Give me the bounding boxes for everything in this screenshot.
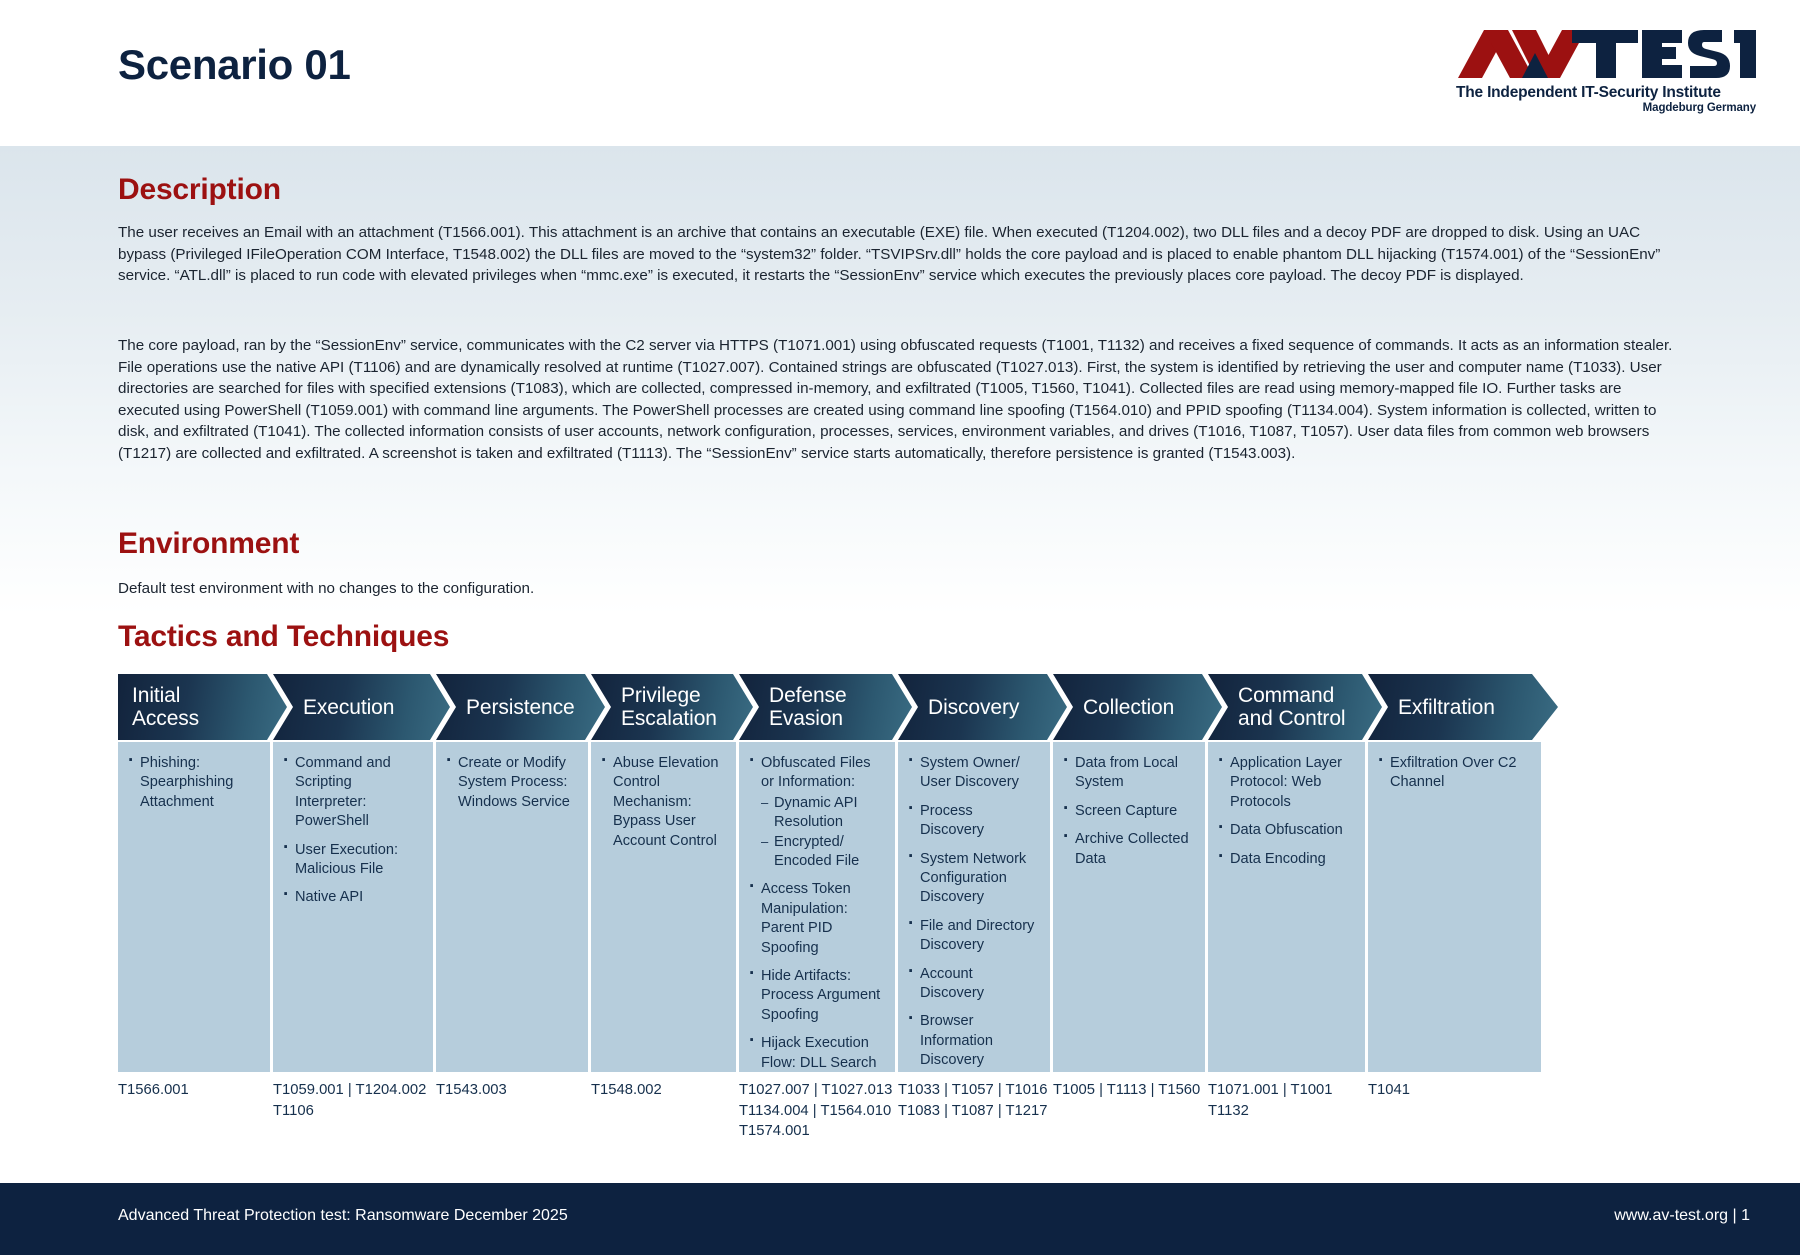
technique-list: Data from Local SystemScreen CaptureArch…	[1061, 754, 1195, 869]
technique-list: Obfuscated Files or Information:Dynamic …	[747, 754, 885, 1072]
technique-item-label: Obfuscated Files or Information:	[761, 755, 871, 790]
technique-item: User Execution: Malicious File	[281, 841, 423, 880]
technique-item: System Owner/ User Discovery	[906, 754, 1040, 793]
technique-item: Process Discovery	[906, 802, 1040, 841]
tactic-header-label: Collection	[1083, 696, 1174, 719]
tactics-and-techniques-table: Initial AccessExecutionPersistencePrivil…	[118, 674, 1690, 1142]
technique-item: Data Encoding	[1216, 850, 1355, 869]
technique-item: Browser Information Discovery	[906, 1012, 1040, 1070]
technique-item-label: Abuse Elevation Control Mechanism: Bypas…	[613, 755, 718, 849]
technique-item: Phishing: Spearphishing Attachment	[126, 754, 260, 812]
technique-ids: T1033 | T1057 | T1016 T1083 | T1087 | T1…	[898, 1080, 1050, 1142]
tactic-header-label: Defense Evasion	[769, 684, 847, 730]
technique-list: Abuse Elevation Control Mechanism: Bypas…	[599, 754, 726, 851]
technique-ids: T1005 | T1113 | T1560	[1053, 1080, 1205, 1142]
page-title: Scenario 01	[118, 44, 351, 86]
technique-ids: T1027.007 | T1027.013 T1134.004 | T1564.…	[739, 1080, 895, 1142]
tactic-header-initial-access[interactable]: Initial Access	[118, 674, 287, 740]
technique-ids: T1059.001 | T1204.002 T1106	[273, 1080, 433, 1142]
logo-location: Magdeburg Germany	[1456, 102, 1756, 114]
technique-item-label: Account Discovery	[920, 966, 984, 1001]
tactic-cell: Data from Local SystemScreen CaptureArch…	[1053, 742, 1205, 1072]
tactic-header-exfiltration[interactable]: Exfiltration	[1368, 674, 1558, 740]
tactic-header-label: Persistence	[466, 696, 575, 719]
technique-item-label: Hijack Execution Flow: DLL Search Order …	[761, 1035, 876, 1072]
tactic-cell: Phishing: Spearphishing Attachment	[118, 742, 270, 1072]
footer-url-and-page: www.av-test.org | 1	[1614, 1207, 1750, 1225]
technique-item: Screen Capture	[1061, 802, 1195, 821]
description-heading: Description	[118, 173, 281, 206]
technique-item-label: Data Obfuscation	[1230, 822, 1343, 838]
tactic-cell: Exfiltration Over C2 Channel	[1368, 742, 1541, 1072]
tactic-cell: Abuse Elevation Control Mechanism: Bypas…	[591, 742, 736, 1072]
tactic-cell: Create or Modify System Process: Windows…	[436, 742, 588, 1072]
tactics-heading: Tactics and Techniques	[118, 620, 449, 653]
footer-test-name: Advanced Threat Protection test: Ransomw…	[118, 1207, 568, 1225]
page-header: Scenario 01 The Independent IT-Secu	[0, 0, 1800, 146]
technique-subitem: Encrypted/ Encoded File	[761, 833, 885, 872]
technique-item: Data Obfuscation	[1216, 821, 1355, 840]
technique-item-label: Access Token Manipulation: Parent PID Sp…	[761, 881, 851, 955]
technique-list: Create or Modify System Process: Windows…	[444, 754, 578, 812]
technique-item: File and Directory Discovery	[906, 917, 1040, 956]
technique-list: System Owner/ User DiscoveryProcess Disc…	[906, 754, 1040, 1071]
tactic-header-label: Privilege Escalation	[621, 684, 717, 730]
description-paragraph-1: The user receives an Email with an attac…	[118, 222, 1680, 287]
technique-item: Hijack Execution Flow: DLL Search Order …	[747, 1034, 885, 1072]
technique-item-label: Command and Scripting Interpreter: Power…	[295, 755, 391, 829]
technique-item: Data from Local System	[1061, 754, 1195, 793]
tactic-cell: Application Layer Protocol: Web Protocol…	[1208, 742, 1365, 1072]
technique-item: System Network Configuration Discovery	[906, 850, 1040, 908]
tactic-header-privilege-escalation[interactable]: Privilege Escalation	[591, 674, 753, 740]
av-test-logo-mark	[1456, 26, 1756, 84]
technique-subitem: Dynamic API Resolution	[761, 794, 885, 833]
tactic-header-label: Execution	[303, 696, 394, 719]
description-paragraph-2: The core payload, ran by the “SessionEnv…	[118, 335, 1680, 465]
technique-list: Application Layer Protocol: Web Protocol…	[1216, 754, 1355, 869]
technique-list: Phishing: Spearphishing Attachment	[126, 754, 260, 812]
technique-item: Command and Scripting Interpreter: Power…	[281, 754, 423, 832]
tactic-cell: System Owner/ User DiscoveryProcess Disc…	[898, 742, 1050, 1072]
environment-heading: Environment	[118, 527, 299, 560]
tactic-header-defense-evasion[interactable]: Defense Evasion	[739, 674, 912, 740]
tactic-header-label: Initial Access	[132, 684, 199, 730]
tactic-header-command-andcontrol[interactable]: Command and Control	[1208, 674, 1382, 740]
technique-item-label: System Owner/ User Discovery	[920, 755, 1020, 790]
technique-item: Native API	[281, 888, 423, 907]
logo-tagline: The Independent IT-Security Institute	[1456, 84, 1756, 102]
technique-item: Hide Artifacts: Process Argument Spoofin…	[747, 967, 885, 1025]
tactic-header-discovery[interactable]: Discovery	[898, 674, 1067, 740]
technique-item-label: System Network Configuration Discovery	[920, 851, 1026, 906]
technique-item: Archive Collected Data	[1061, 830, 1195, 869]
tactic-header-execution[interactable]: Execution	[273, 674, 450, 740]
technique-ids-row: T1566.001T1059.001 | T1204.002 T1106T154…	[118, 1080, 1690, 1142]
technique-ids: T1543.003	[436, 1080, 588, 1142]
technique-item-label: Phishing: Spearphishing Attachment	[140, 755, 233, 810]
technique-item: Application Layer Protocol: Web Protocol…	[1216, 754, 1355, 812]
tactic-header-collection[interactable]: Collection	[1053, 674, 1222, 740]
technique-item: Create or Modify System Process: Windows…	[444, 754, 578, 812]
environment-text: Default test environment with no changes…	[118, 578, 1318, 600]
technique-ids: T1071.001 | T1001 T1132	[1208, 1080, 1365, 1142]
technique-item-label: Process Discovery	[920, 803, 984, 838]
technique-item: Abuse Elevation Control Mechanism: Bypas…	[599, 754, 726, 851]
technique-item-label: Screen Capture	[1075, 803, 1177, 819]
technique-item-label: Data from Local System	[1075, 755, 1178, 790]
technique-ids: T1548.002	[591, 1080, 736, 1142]
technique-item-label: Exfiltration Over C2 Channel	[1390, 755, 1517, 790]
technique-ids: T1041	[1368, 1080, 1541, 1142]
technique-item-label: File and Directory Discovery	[920, 918, 1034, 953]
page-footer: Advanced Threat Protection test: Ransomw…	[0, 1183, 1800, 1255]
technique-item-label: Archive Collected Data	[1075, 831, 1189, 866]
technique-item: Obfuscated Files or Information:Dynamic …	[747, 754, 885, 871]
technique-item-label: Hide Artifacts: Process Argument Spoofin…	[761, 968, 880, 1023]
tactic-header-label: Exfiltration	[1398, 696, 1495, 719]
tactics-cells-row: Phishing: Spearphishing AttachmentComman…	[118, 742, 1690, 1072]
tactic-cell: Command and Scripting Interpreter: Power…	[273, 742, 433, 1072]
av-test-logo: The Independent IT-Security Institute Ma…	[1456, 26, 1756, 116]
technique-item: Account Discovery	[906, 965, 1040, 1004]
technique-sublist: Dynamic API ResolutionEncrypted/ Encoded…	[761, 794, 885, 872]
technique-item-label: Application Layer Protocol: Web Protocol…	[1230, 755, 1342, 810]
technique-item-label: Create or Modify System Process: Windows…	[458, 755, 570, 810]
tactic-header-label: Discovery	[928, 696, 1019, 719]
tactics-header-row: Initial AccessExecutionPersistencePrivil…	[118, 674, 1690, 740]
technique-item: Exfiltration Over C2 Channel	[1376, 754, 1531, 793]
technique-ids: T1566.001	[118, 1080, 270, 1142]
tactic-header-label: Command and Control	[1238, 684, 1345, 730]
technique-item-label: User Execution: Malicious File	[295, 842, 398, 877]
tactic-cell: Obfuscated Files or Information:Dynamic …	[739, 742, 895, 1072]
technique-item-label: Native API	[295, 889, 363, 905]
technique-list: Command and Scripting Interpreter: Power…	[281, 754, 423, 908]
technique-list: Exfiltration Over C2 Channel	[1376, 754, 1531, 793]
technique-item-label: Browser Information Discovery	[920, 1013, 993, 1068]
tactic-header-persistence[interactable]: Persistence	[436, 674, 605, 740]
technique-item: Access Token Manipulation: Parent PID Sp…	[747, 880, 885, 958]
technique-item-label: Data Encoding	[1230, 851, 1326, 867]
